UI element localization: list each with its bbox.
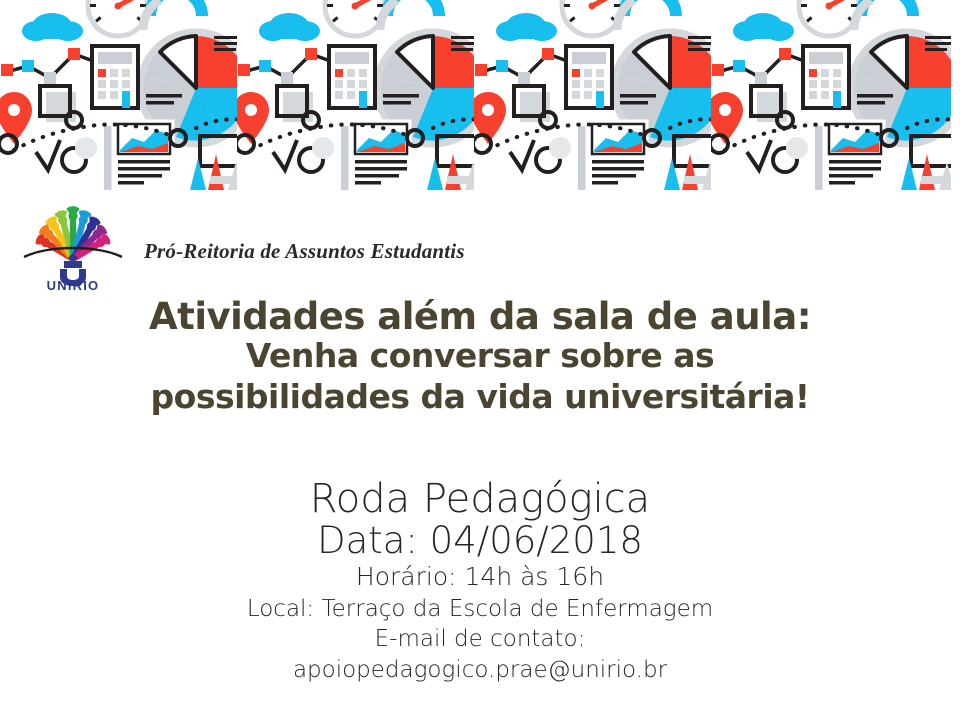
infographic-header-band	[0, 0, 960, 190]
headline-line-3: possibilidades da vida universitária!	[0, 377, 960, 417]
logo-wordmark: UNIRIO	[47, 278, 100, 290]
gauge-icon	[799, 0, 859, 36]
headline-block: Atividades além da sala de aula: Venha c…	[0, 298, 960, 417]
gauge-icon	[325, 0, 385, 36]
document-chart-icon	[815, 120, 885, 190]
logo-row: UNIRIO Pró-Reitoria de Assuntos Estudant…	[14, 195, 465, 290]
banner-tile	[474, 0, 714, 190]
event-place: Local: Terraço da Escola de Enfermagem	[0, 594, 960, 624]
calculator-icon	[329, 46, 375, 108]
poster-canvas: UNIRIO Pró-Reitoria de Assuntos Estudant…	[0, 0, 960, 720]
contact-email: apoiopedagogico.prae@unirio.br	[0, 655, 960, 686]
text-lines-icon	[447, 176, 477, 184]
calculator-icon	[566, 46, 612, 108]
event-time: Horário: 14h às 16h	[0, 561, 960, 594]
calculator-icon	[92, 46, 138, 108]
circle-outline-icon	[312, 137, 334, 159]
document-chart-icon	[341, 120, 411, 190]
gauge-icon	[562, 0, 622, 36]
email-label: E-mail de contato:	[0, 624, 960, 654]
event-date: Data: 04/06/2018	[0, 521, 960, 562]
document-chart-icon	[578, 120, 648, 190]
circle-outline-icon	[75, 137, 97, 159]
text-lines-icon	[921, 176, 951, 184]
calculator-icon	[803, 46, 849, 108]
headline-line-1: Atividades além da sala de aula:	[0, 298, 960, 335]
circle-outline-icon	[549, 137, 571, 159]
event-details-block: Roda Pedagógica Data: 04/06/2018 Horário…	[0, 478, 960, 686]
banner-tile	[711, 0, 951, 190]
document-chart-icon	[104, 120, 174, 190]
banner-tile	[0, 0, 240, 190]
text-lines-icon	[210, 176, 240, 184]
circle-outline-icon	[786, 137, 808, 159]
headline-line-2: Venha conversar sobre as	[0, 335, 960, 377]
text-lines-icon	[684, 176, 714, 184]
event-title: Roda Pedagógica	[0, 478, 960, 521]
banner-tile	[237, 0, 477, 190]
prae-title: Pró-Reitoria de Assuntos Estudantis	[144, 239, 465, 290]
gauge-icon	[88, 0, 148, 36]
unirio-prae-logo: UNIRIO	[14, 195, 132, 290]
